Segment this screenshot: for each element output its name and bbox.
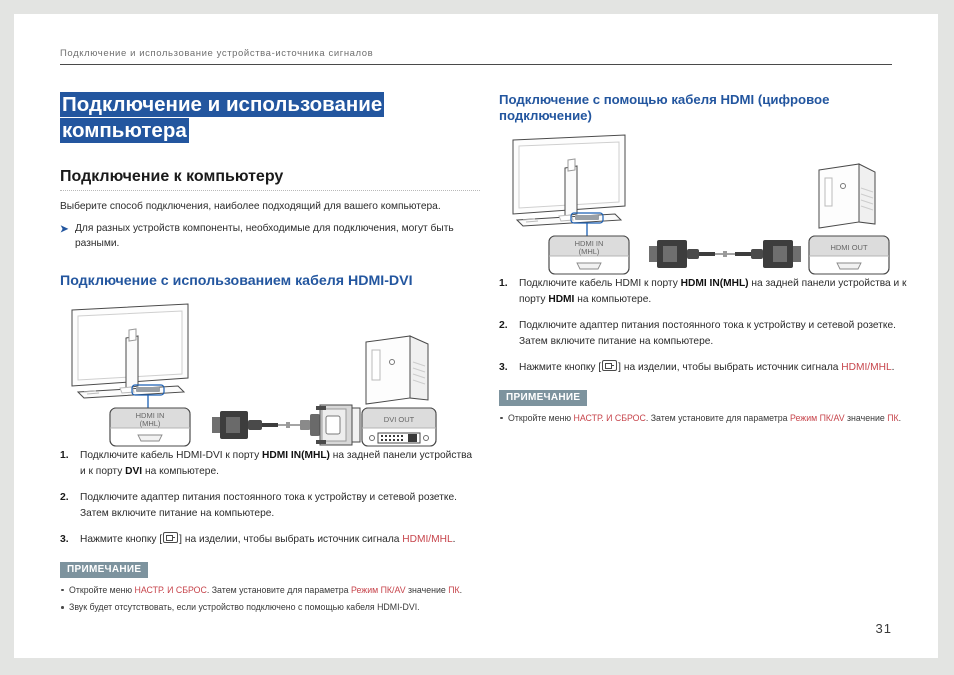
chapter-title-text: Подключение и использование компьютера (60, 92, 384, 143)
hdmi-diagram: HDMI IN (MHL) (499, 134, 909, 276)
step-text: Подключите адаптер питания постоянного т… (80, 492, 457, 519)
svg-text:(MHL): (MHL) (140, 419, 161, 428)
section-heading: Подключение к компьютеру (60, 168, 480, 191)
step-number: 2. (60, 490, 69, 506)
step-text: Подключите кабель HDMI-DVI к порту HDMI … (80, 450, 472, 477)
svg-text:HDMI OUT: HDMI OUT (830, 243, 867, 252)
arrow-note: ➤ Для разных устройств компоненты, необх… (60, 221, 480, 251)
running-header: Подключение и использование устройства-и… (60, 48, 892, 65)
svg-text:(MHL): (MHL) (579, 247, 600, 256)
note-tag: ПРИМЕЧАНИЕ (499, 390, 587, 406)
arrow-bullet-icon: ➤ (60, 222, 68, 237)
note-item: Откройте меню НАСТР. И СБРОС. Затем уста… (499, 412, 909, 425)
intro-paragraph: Выберите способ подключения, наиболее по… (60, 199, 480, 214)
page-number: 31 (876, 621, 892, 636)
left-column: Подключение и использование компьютера П… (60, 92, 480, 619)
note-tag: ПРИМЕЧАНИЕ (60, 562, 148, 578)
hdmi-out-port-box: HDMI OUT (809, 236, 889, 274)
hdmi-plug-right (735, 240, 801, 268)
note-item: Откройте меню НАСТР. И СБРОС. Затем уста… (60, 584, 480, 597)
step-item: 3. Нажмите кнопку [] на изделии, чтобы в… (60, 532, 480, 548)
dvi-out-port-box: DVI OUT (362, 408, 436, 446)
step-item: 2. Подключите адаптер питания постоянног… (499, 318, 909, 349)
left-subheading: Подключение с использованием кабеля HDMI… (60, 273, 480, 290)
arrow-note-text: Для разных устройств компоненты, необход… (75, 223, 454, 249)
hdmi-plug-left (649, 240, 715, 268)
running-header-title: Подключение и использование устройства-и… (60, 48, 892, 59)
hdmi-diagram-svg: HDMI IN (MHL) (499, 134, 899, 276)
step-text: Нажмите кнопку [] на изделии, чтобы выбр… (519, 362, 895, 373)
left-notes-list: Откройте меню НАСТР. И СБРОС. Затем уста… (60, 584, 480, 614)
svg-text:DVI OUT: DVI OUT (384, 415, 415, 424)
right-steps-list: 1. Подключите кабель HDMI к порту HDMI I… (499, 276, 909, 376)
step-number: 1. (499, 276, 508, 292)
hdmi-plug (212, 411, 278, 439)
hdmi-in-port-box: HDMI IN (MHL) (549, 236, 629, 274)
step-item: 1. Подключите кабель HDMI к порту HDMI I… (499, 276, 909, 307)
dvi-plug (300, 405, 360, 445)
chapter-title-wrap: Подключение и использование компьютера (60, 92, 480, 144)
hdmi-dvi-diagram-svg: HDMI IN (MHL) (60, 300, 460, 448)
step-text: Подключите адаптер питания постоянного т… (519, 320, 896, 347)
hdmi-dvi-diagram: HDMI IN (MHL) (60, 300, 480, 448)
pc-tower (819, 164, 875, 228)
step-number: 2. (499, 318, 508, 334)
right-notes-list: Откройте меню НАСТР. И СБРОС. Затем уста… (499, 412, 909, 425)
right-subheading: Подключение с помощью кабеля HDMI (цифро… (499, 92, 909, 124)
step-text: Подключите кабель HDMI к порту HDMI IN(M… (519, 278, 907, 305)
step-item: 3. Нажмите кнопку [] на изделии, чтобы в… (499, 360, 909, 376)
step-number: 3. (499, 360, 508, 376)
step-number: 3. (60, 532, 69, 548)
pc-tower (366, 336, 428, 404)
hdmi-in-port-box: HDMI IN (MHL) (110, 408, 190, 446)
source-button-icon (163, 532, 178, 543)
header-rule (60, 64, 892, 65)
step-item: 1. Подключите кабель HDMI-DVI к порту HD… (60, 448, 480, 479)
step-item: 2. Подключите адаптер питания постоянног… (60, 490, 480, 521)
source-button-icon (602, 360, 617, 371)
note-item: Звук будет отсутствовать, если устройств… (60, 601, 480, 614)
chapter-title: Подключение и использование компьютера (60, 92, 480, 144)
step-text: Нажмите кнопку [] на изделии, чтобы выбр… (80, 534, 456, 545)
document-page: Подключение и использование устройства-и… (14, 14, 938, 658)
right-column: Подключение с помощью кабеля HDMI (цифро… (499, 92, 909, 429)
left-steps-list: 1. Подключите кабель HDMI-DVI к порту HD… (60, 448, 480, 548)
step-number: 1. (60, 448, 69, 464)
